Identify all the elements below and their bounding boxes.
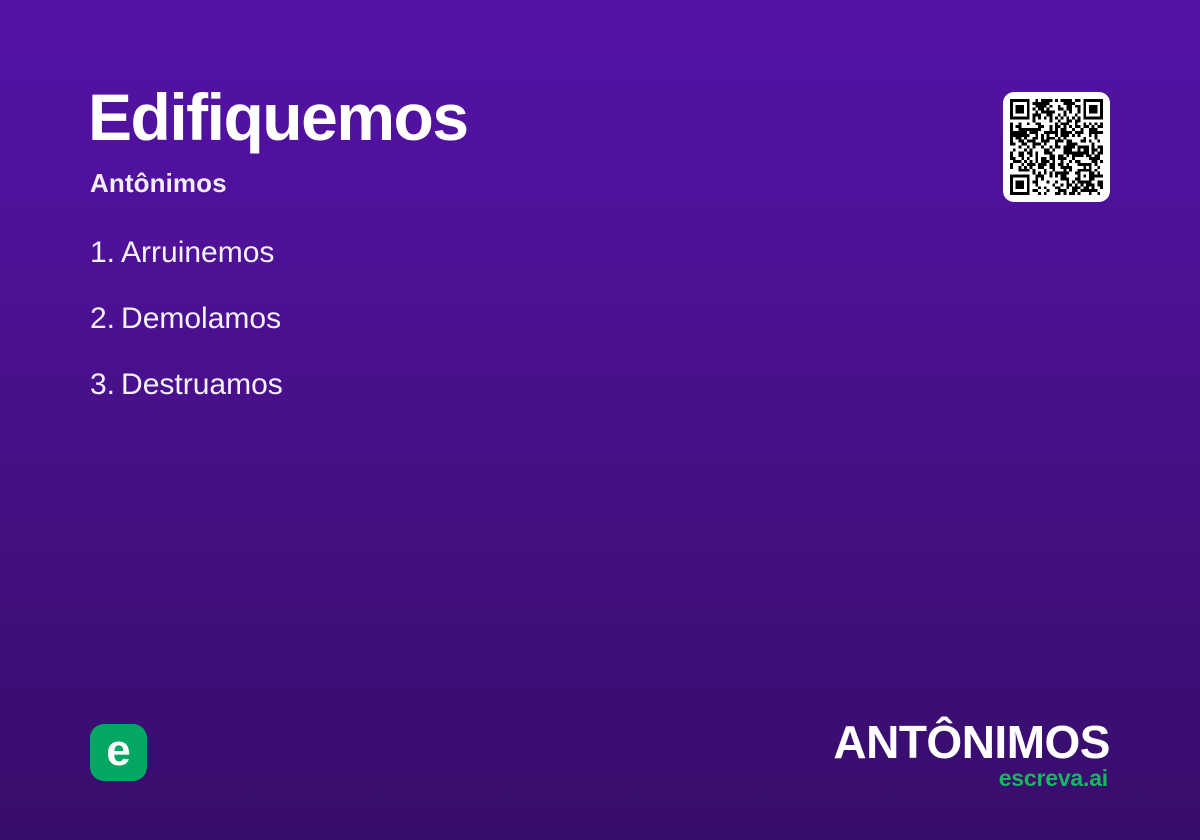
list-item: 2.Demolamos [90,304,650,334]
escreva-logo-letter: e [90,724,147,781]
list-item-index: 3. [90,368,115,401]
qr-code-panel[interactable] [1003,92,1110,202]
list-item-word: Destruamos [121,368,283,401]
list-item-word: Demolamos [121,302,281,335]
wordmark-secondary: escreva.ai [833,767,1108,790]
brand-wordmark: ANTÔNIMOS escreva.ai [833,719,1110,790]
wordmark-primary: ANTÔNIMOS [833,719,1110,765]
antonym-card: Edifiquemos Antônimos 1.Arruinemos 2.Dem… [0,0,1200,840]
card-subtitle: Antônimos [90,168,227,199]
page-title: Edifiquemos [88,84,468,150]
antonym-list: 1.Arruinemos 2.Demolamos 3.Destruamos [90,238,650,436]
list-item: 1.Arruinemos [90,238,650,268]
list-item-word: Arruinemos [121,236,274,269]
qr-code-icon[interactable] [1010,99,1103,195]
list-item-index: 2. [90,302,115,335]
list-item-index: 1. [90,236,115,269]
escreva-logo-icon[interactable]: e [90,724,147,781]
list-item: 3.Destruamos [90,370,650,400]
